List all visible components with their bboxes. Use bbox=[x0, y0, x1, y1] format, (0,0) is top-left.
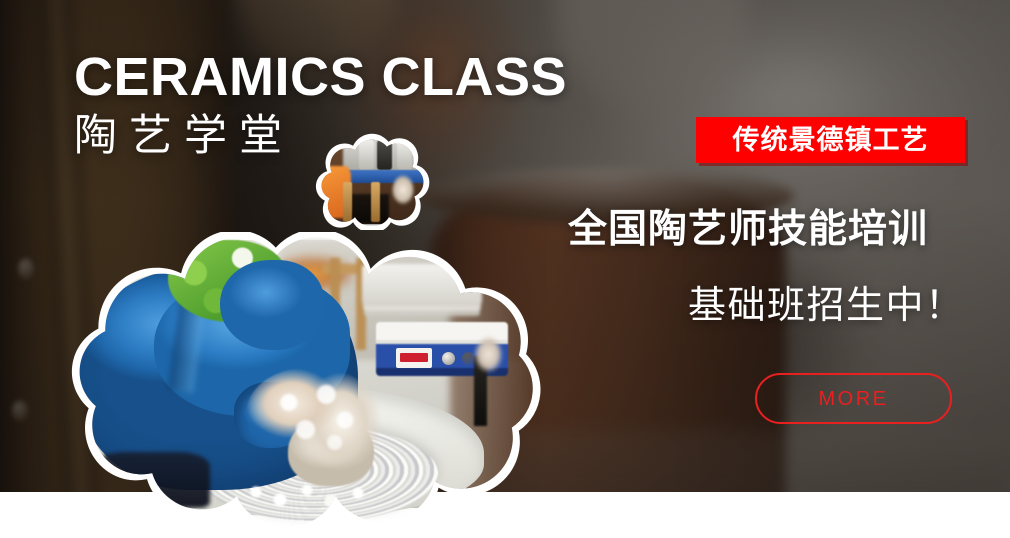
headline-primary: 全国陶艺师技能培训 bbox=[568, 198, 968, 254]
cloud-photo-large bbox=[62, 232, 548, 516]
status-badge: 传统景德镇工艺 bbox=[696, 117, 965, 163]
status-badge-label: 传统景德镇工艺 bbox=[733, 127, 929, 154]
cloud-photo-small bbox=[313, 132, 431, 230]
ceramics-class-banner: CERAMICS CLASS 陶艺学堂 bbox=[0, 0, 1010, 538]
more-button-label: MORE bbox=[819, 389, 889, 409]
more-button[interactable]: MORE bbox=[755, 373, 952, 424]
page-title-english: CERAMICS CLASS bbox=[74, 50, 567, 104]
headline-secondary: 基础班招生中！ bbox=[688, 274, 968, 329]
